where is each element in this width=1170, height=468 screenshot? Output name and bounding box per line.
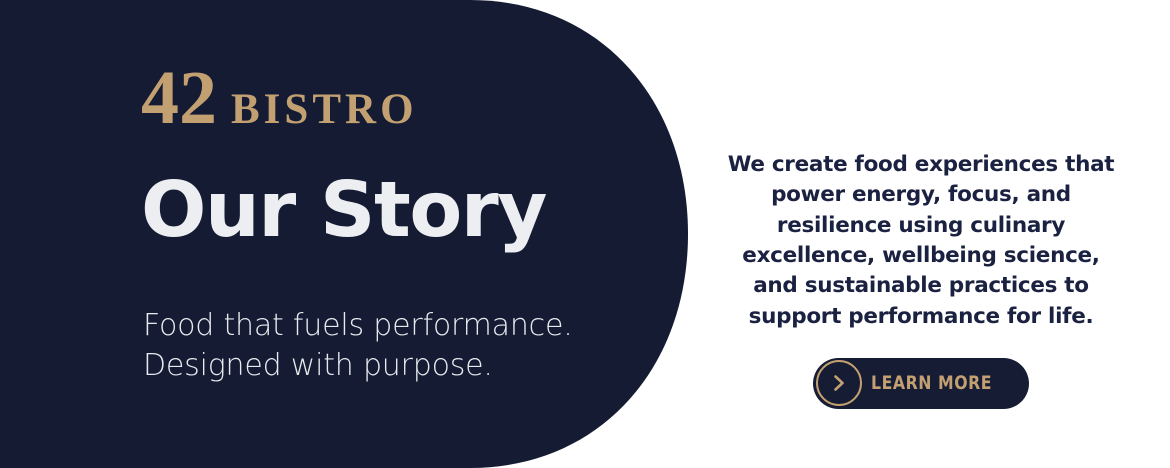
- brand-number: 42: [141, 62, 217, 134]
- brand-wordmark: BISTRO: [231, 88, 418, 131]
- hero-right-column: We create food experiences that power en…: [706, 0, 1136, 468]
- learn-more-button-label: LEARN MORE: [871, 372, 992, 394]
- hero-subheadline-line-2: Designed with purpose.: [143, 346, 573, 386]
- hero-subheadline-line-1: Food that fuels performance.: [143, 306, 573, 346]
- page-title: Our Story: [141, 172, 546, 251]
- chevron-right-icon: [816, 360, 862, 406]
- learn-more-button[interactable]: LEARN MORE: [813, 358, 1029, 409]
- hero-left-column: 42 BISTRO Our Story Food that fuels perf…: [0, 0, 560, 468]
- hero-subheadline: Food that fuels performance. Designed wi…: [143, 306, 573, 386]
- brand-logo: 42 BISTRO: [141, 62, 418, 134]
- mission-paragraph: We create food experiences that power en…: [721, 150, 1121, 332]
- hero-section: 42 BISTRO Our Story Food that fuels perf…: [0, 0, 1170, 468]
